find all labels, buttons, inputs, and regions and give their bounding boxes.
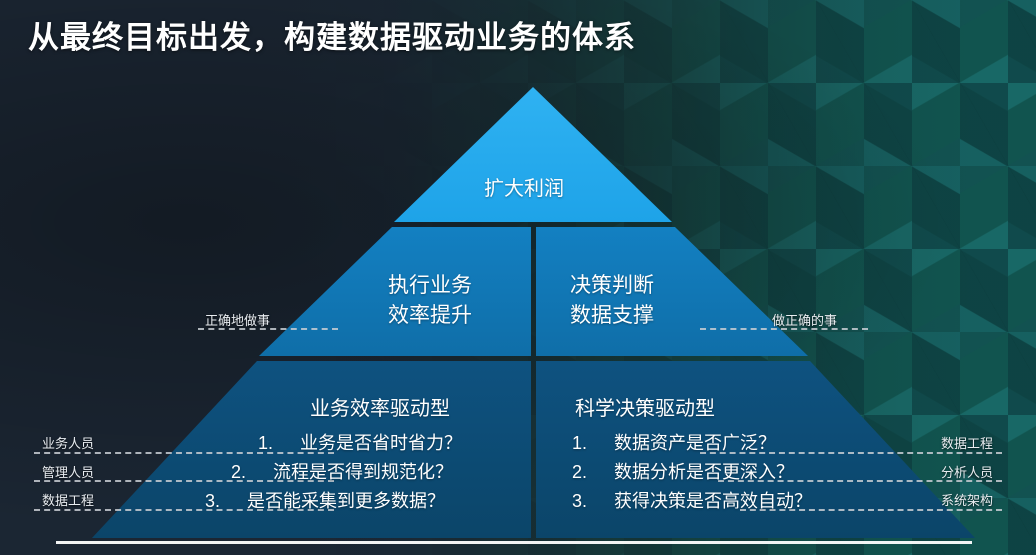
- role-label-right-1: 数据工程: [941, 433, 993, 452]
- base-right-item-2-text: 数据分析是否更深入？: [614, 462, 794, 482]
- base-right-item-1-text: 数据资产是否广泛？: [614, 433, 776, 453]
- pyramid-middle-right-label: 决策判断 数据支撑: [570, 271, 654, 331]
- pyramid-middle-right-line2: 数据支撑: [570, 301, 654, 331]
- base-left-item-3-text: 是否能采集到更多数据？: [247, 491, 445, 511]
- base-right-item-1: 1.数据资产是否广泛？: [572, 429, 776, 455]
- pyramid-apex-shape: [394, 87, 672, 222]
- pyramid-diagram: [0, 0, 1036, 555]
- slide-canvas: 从最终目标出发，构建数据驱动业务的体系: [0, 0, 1036, 555]
- pyramid-apex-label: 扩大利润: [484, 172, 564, 201]
- base-left-item-1-number: 1.: [258, 433, 300, 454]
- base-right-item-2-number: 2.: [572, 462, 614, 483]
- base-left-item-2-number: 2.: [231, 462, 273, 483]
- pyramid-middle-left-label: 执行业务 效率提升: [388, 271, 472, 331]
- base-left-item-2-text: 流程是否得到规范化？: [273, 462, 453, 482]
- base-right-item-2: 2.数据分析是否更深入？: [572, 458, 794, 484]
- pyramid-middle-right-line1: 决策判断: [570, 271, 654, 301]
- pyramid-middle-left-line2: 效率提升: [388, 301, 472, 331]
- base-left-item-3-number: 3.: [205, 491, 247, 512]
- base-right-item-3-text: 获得决策是否高效自动？: [614, 491, 812, 511]
- role-label-left-1: 业务人员: [42, 433, 94, 452]
- pyramid-middle-left-line1: 执行业务: [388, 271, 472, 301]
- pyramid-base-left-heading: 业务效率驱动型: [310, 392, 450, 421]
- base-left-item-1: 1.业务是否省时省力？: [258, 429, 462, 455]
- base-right-item-3-number: 3.: [572, 491, 614, 512]
- base-right-item-3: 3.获得决策是否高效自动？: [572, 487, 812, 513]
- role-label-right-3: 系统架构: [941, 490, 993, 509]
- base-left-item-3: 3.是否能采集到更多数据？: [205, 487, 445, 513]
- role-label-right-2: 分析人员: [941, 462, 993, 481]
- role-label-left-2: 管理人员: [42, 462, 94, 481]
- annotation-middle-left: 正确地做事: [205, 310, 270, 329]
- role-label-left-3: 数据工程: [42, 490, 94, 509]
- base-left-item-2: 2.流程是否得到规范化？: [231, 458, 453, 484]
- base-left-item-1-text: 业务是否省时省力？: [300, 433, 462, 453]
- pyramid-base-right-heading: 科学决策驱动型: [575, 392, 715, 421]
- base-right-item-1-number: 1.: [572, 433, 614, 454]
- annotation-middle-right: 做正确的事: [772, 310, 837, 329]
- pyramid-base-underline: [56, 541, 972, 544]
